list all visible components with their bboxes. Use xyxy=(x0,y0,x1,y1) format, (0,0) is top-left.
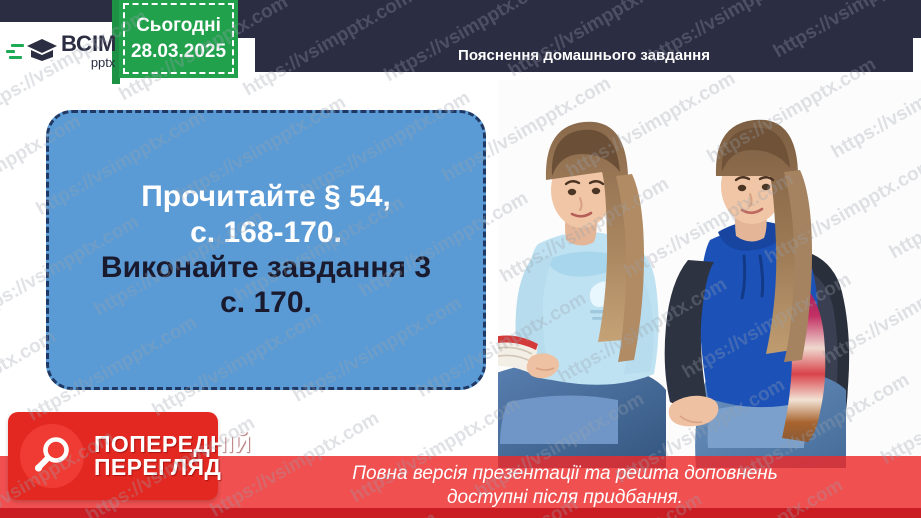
today-date: 28.03.2025 xyxy=(131,41,226,63)
assignment-box: Прочитайте § 54, с. 168-170. Виконайте з… xyxy=(46,110,486,390)
preview-label-line-2: ПЕРЕГЛЯД xyxy=(94,456,251,479)
banner-line-1: Повна версія презентації та решта доповн… xyxy=(352,462,777,486)
logo-brand-text: ВСІМ xyxy=(61,33,116,55)
students-photo-illustration xyxy=(498,80,921,468)
brand-logo[interactable]: ВСІМ pptx xyxy=(0,22,112,80)
slide-title-bar: Пояснення домашнього завдання xyxy=(255,38,913,72)
logo-inner: ВСІМ pptx xyxy=(0,33,116,69)
assignment-line-3: Виконайте завдання 3 xyxy=(101,250,431,285)
banner-line-2: доступні після придбання. xyxy=(447,486,683,510)
students-photo xyxy=(498,80,921,468)
purchase-banner-text: Повна версія презентації та решта доповн… xyxy=(230,458,900,514)
magnifier-icon xyxy=(20,424,84,488)
preview-button-labels: ПОПЕРЕДНІЙ ПЕРЕГЛЯД xyxy=(94,433,251,480)
badge-text-group: Сьогодні 28.03.2025 xyxy=(119,0,238,78)
assignment-line-1: Прочитайте § 54, xyxy=(141,179,391,214)
speed-lines-icon xyxy=(6,44,24,59)
top-navy-strip-left xyxy=(0,0,112,22)
today-label: Сьогодні xyxy=(136,15,221,37)
graduation-cap-icon xyxy=(25,34,59,68)
assignment-line-4: с. 170. xyxy=(220,285,312,320)
slide-root: Сьогодні 28.03.2025 ВСІМ pptx Пояснення … xyxy=(0,0,921,518)
assignment-line-2: с. 168-170. xyxy=(190,215,342,250)
logo-wordmark: ВСІМ pptx xyxy=(61,33,116,69)
preview-label-line-1: ПОПЕРЕДНІЙ xyxy=(94,433,251,456)
preview-button[interactable]: ПОПЕРЕДНІЙ ПЕРЕГЛЯД xyxy=(8,412,218,500)
today-date-badge: Сьогодні 28.03.2025 xyxy=(119,0,238,78)
logo-suffix-text: pptx xyxy=(91,56,116,69)
watermark-text: https://vsimpptx.com xyxy=(0,226,2,341)
page-title: Пояснення домашнього завдання xyxy=(458,47,710,64)
